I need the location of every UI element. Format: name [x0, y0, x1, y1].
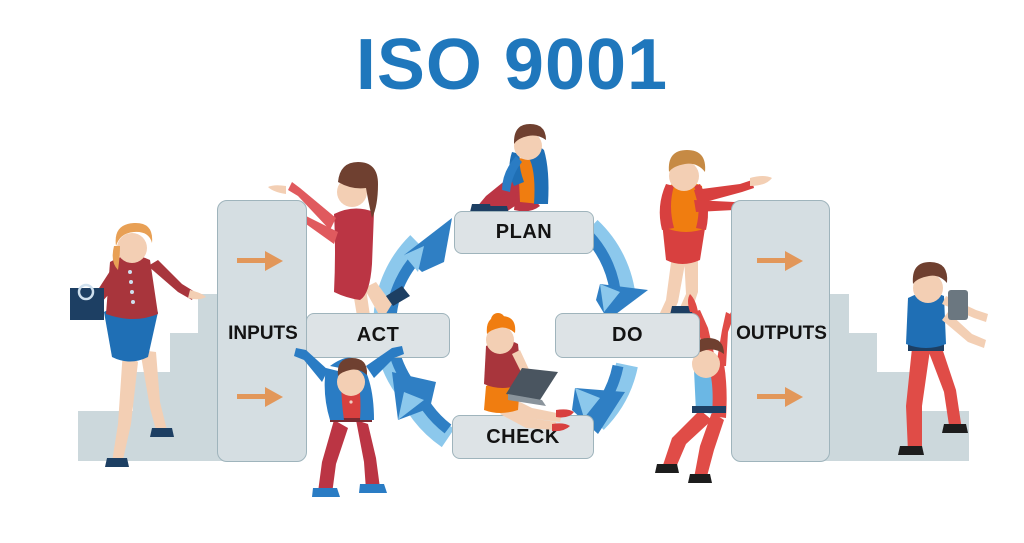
people-illustrations-front — [0, 0, 1024, 543]
illustration-woman-with-laptop — [484, 313, 574, 431]
iso-9001-diagram: ISO 9001 — [0, 0, 1024, 543]
illustration-man-holding-act-box — [294, 346, 404, 497]
